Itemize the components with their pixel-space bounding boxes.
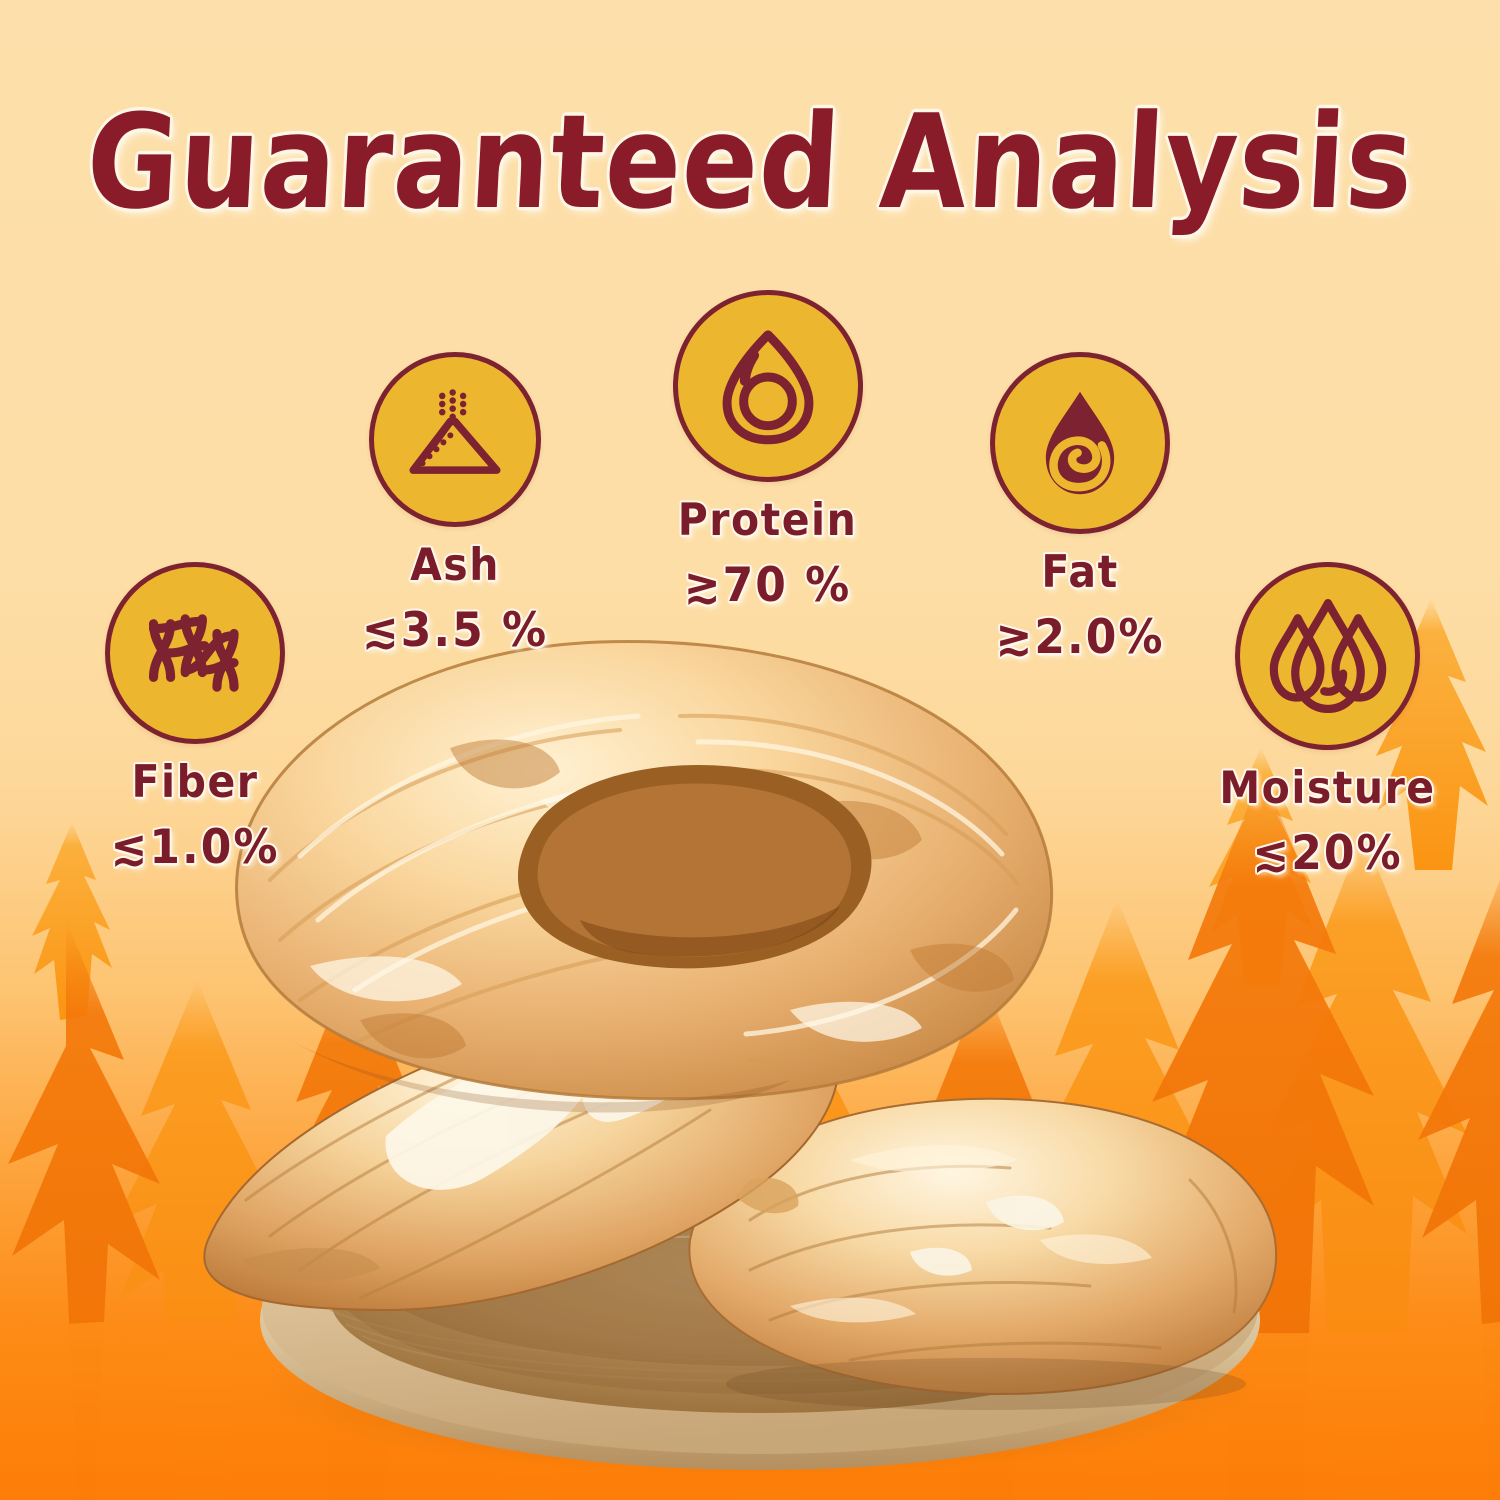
moisture-label: Moisture xyxy=(1195,762,1460,814)
ash-mound-icon xyxy=(397,382,513,498)
protein-label: Protein xyxy=(645,494,890,546)
ash-label: Ash xyxy=(335,539,575,591)
ash-value: ≲3.5 % xyxy=(335,603,575,658)
protein-text-block: Protein ≳70 % xyxy=(645,496,890,611)
fiber-badge-circle[interactable] xyxy=(105,562,285,744)
fat-value: ≳2.0% xyxy=(960,610,1200,665)
nutrient-badge-fiber[interactable]: Fiber ≲1.0% xyxy=(70,562,320,873)
fiber-text-block: Fiber ≲1.0% xyxy=(70,758,320,873)
fiber-helix-icon xyxy=(134,592,256,714)
fiber-value: ≲1.0% xyxy=(70,820,320,875)
fat-badge-circle[interactable] xyxy=(990,352,1170,534)
moisture-text-block: Moisture ≲20% xyxy=(1195,764,1460,879)
protein-egg-icon xyxy=(704,322,832,450)
nutrient-badge-protein[interactable]: Protein ≳70 % xyxy=(645,290,890,611)
protein-badge-circle[interactable] xyxy=(673,290,863,482)
fat-text-block: Fat ≳2.0% xyxy=(960,548,1200,663)
chicken-treat-ring xyxy=(210,620,1090,1120)
nutrient-badge-fat[interactable]: Fat ≳2.0% xyxy=(960,352,1200,663)
nutrient-badge-ash[interactable]: Ash ≲3.5 % xyxy=(335,352,575,656)
product-photo xyxy=(150,620,1370,1480)
fiber-label: Fiber xyxy=(70,756,320,808)
protein-value: ≳70 % xyxy=(645,558,890,613)
nutrient-badge-moisture[interactable]: Moisture ≲20% xyxy=(1195,562,1460,879)
page-title: Guaranteed Analysis xyxy=(83,96,1417,232)
ash-text-block: Ash ≲3.5 % xyxy=(335,541,575,656)
infographic-canvas: Guaranteed Analysis Fib xyxy=(0,0,1500,1500)
moisture-badge-circle[interactable] xyxy=(1235,562,1420,750)
ash-badge-circle[interactable] xyxy=(369,352,541,527)
moisture-value: ≲20% xyxy=(1195,826,1460,881)
moisture-droplets-icon xyxy=(1265,593,1391,719)
fat-droplet-icon xyxy=(1019,382,1141,504)
page-title-container: Guaranteed Analysis xyxy=(0,105,1500,223)
fat-label: Fat xyxy=(960,546,1200,598)
